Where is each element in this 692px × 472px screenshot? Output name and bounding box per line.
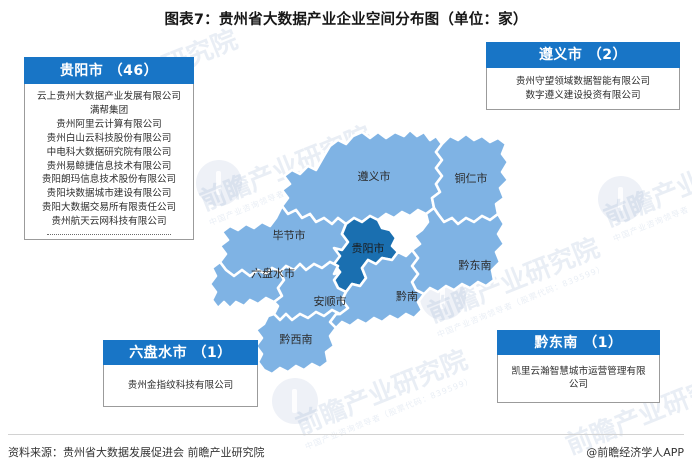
callout-qiandongnan[interactable]: 黔东南 （1） 凯里云瀚智慧城市运营管理有限公司 — [497, 330, 660, 403]
callout-body-liupanshui: 贵州金指纹科技有限公司 — [103, 365, 258, 407]
more-items-ellipsis — [47, 234, 172, 235]
company-item: 贵阳大数据交易所有限责任公司 — [42, 201, 176, 215]
company-item: 贵阳块数据城市建设有限公司 — [47, 187, 172, 201]
brand-note: @前瞻经济学人APP — [586, 444, 684, 460]
watermark-logo-icon — [598, 176, 644, 222]
company-item: 凯里云瀚智慧城市运营管理有限公司 — [509, 366, 649, 392]
map-label-qiannan: 黔南 — [396, 288, 418, 304]
company-item: 贵州守望领域数据智能有限公司 — [516, 75, 650, 89]
map-label-tongren: 铜仁市 — [455, 170, 488, 186]
map-label-zunyi: 遵义市 — [358, 168, 391, 184]
callout-header-zunyi: 遵义市 （2） — [486, 42, 680, 68]
callout-zunyi[interactable]: 遵义市 （2） 贵州守望领域数据智能有限公司 数字遵义建设投资有限公司 — [486, 42, 680, 110]
callout-body-guiyang: 云上贵州大数据产业发展有限公司 满帮集团 贵州阿里云计算有限公司 贵州白山云科技… — [24, 84, 194, 240]
watermark-main: 前瞻产业研究院 — [600, 137, 692, 233]
company-item: 贵州易鲸捷信息技术有限公司 — [47, 160, 172, 174]
callout-header-guiyang: 贵阳市 （46） — [24, 57, 194, 84]
company-item: 贵州航天云网科技有限公司 — [51, 215, 166, 229]
chart-page: 图表7：贵州省大数据产业企业空间分布图（单位：家） 前瞻产业研究院 中国产业咨询… — [0, 0, 692, 472]
callout-header-qiandongnan: 黔东南 （1） — [497, 330, 660, 355]
map-label-qiandongnan: 黔东南 — [459, 257, 492, 273]
company-item: 贵州金指纹科技有限公司 — [128, 379, 234, 393]
company-item: 贵阳朗玛信息技术股份有限公司 — [42, 173, 176, 187]
map-label-guiyang: 贵阳市 — [352, 240, 385, 256]
page-title: 图表7：贵州省大数据产业企业空间分布图（单位：家） — [0, 8, 692, 29]
callout-body-zunyi: 贵州守望领域数据智能有限公司 数字遵义建设投资有限公司 — [486, 68, 680, 110]
company-item: 贵州白山云科技股份有限公司 — [47, 132, 172, 146]
map-label-qianxinan: 黔西南 — [280, 331, 313, 347]
watermark-text: 前瞻产业研究院 中国产业咨询领导者（股票代码：839599） — [598, 132, 692, 245]
watermark-sub: 中国产业咨询领导者（股票代码：839599） — [611, 166, 692, 244]
callout-guiyang[interactable]: 贵阳市 （46） 云上贵州大数据产业发展有限公司 满帮集团 贵州阿里云计算有限公… — [24, 57, 194, 240]
company-item: 贵州阿里云计算有限公司 — [56, 118, 162, 132]
map-label-liupanshui: 六盘水市 — [251, 265, 295, 281]
callout-body-qiandongnan: 凯里云瀚智慧城市运营管理有限公司 — [497, 355, 660, 403]
company-item: 数字遵义建设投资有限公司 — [525, 89, 640, 103]
map-label-anshun: 安顺市 — [314, 293, 347, 309]
company-item: 云上贵州大数据产业发展有限公司 — [37, 90, 181, 104]
map-label-bijie: 毕节市 — [273, 227, 306, 243]
company-item: 中电科大数据研究院有限公司 — [47, 146, 172, 160]
callout-liupanshui[interactable]: 六盘水市 （1） 贵州金指纹科技有限公司 — [103, 340, 258, 407]
callout-header-liupanshui: 六盘水市 （1） — [103, 340, 258, 365]
footer-divider — [8, 434, 684, 435]
source-note: 资料来源：贵州省大数据发展促进会 前瞻产业研究院 — [8, 444, 265, 460]
company-item: 满帮集团 — [90, 104, 128, 118]
